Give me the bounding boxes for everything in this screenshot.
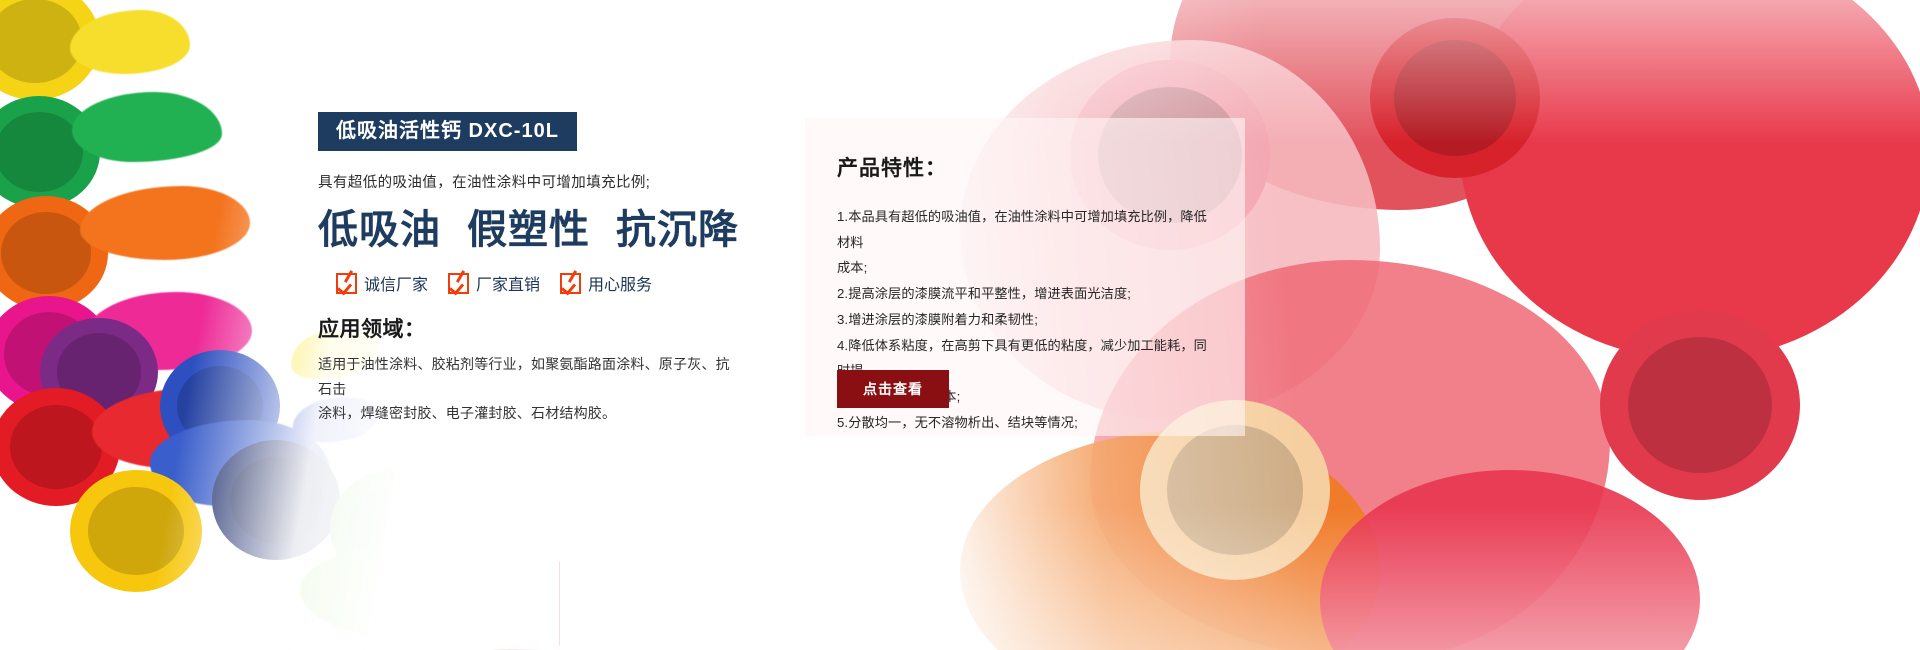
- application-body-line-2: 涂料，焊缝密封胶、电子灌封胶、石材结构胶。: [318, 401, 738, 426]
- application-body-line-1: 适用于油性涂料、胶粘剂等行业，如聚氨酯路面涂料、原子灰、抗石击: [318, 352, 738, 401]
- feature-line: 3.增进涂层的漆膜附着力和柔韧性;: [837, 307, 1217, 333]
- application-section-body: 适用于油性涂料、胶粘剂等行业，如聚氨酯路面涂料、原子灰、抗石击 涂料，焊缝密封胶…: [318, 352, 738, 426]
- product-features-panel: 产品特性： 1.本品具有超低的吸油值，在油性涂料中可增加填充比例，降低材料 成本…: [805, 118, 1245, 436]
- check-icon: [448, 273, 469, 294]
- view-details-button[interactable]: 点击查看: [837, 370, 949, 408]
- trust-badge-label: 用心服务: [588, 271, 652, 295]
- headline-word-3: 抗沉降: [616, 207, 739, 252]
- product-banner: 低吸油活性钙 DXC-10L 具有超低的吸油值，在油性涂料中可增加填充比例; 低…: [0, 0, 1920, 650]
- left-copy-block: 低吸油活性钙 DXC-10L 具有超低的吸油值，在油性涂料中可增加填充比例; 低…: [318, 112, 738, 426]
- feature-line: 成本;: [837, 255, 1217, 281]
- feature-line: 1.本品具有超低的吸油值，在油性涂料中可增加填充比例，降低材料: [837, 204, 1217, 255]
- application-section-title: 应用领域：: [318, 313, 738, 343]
- trust-badge-row: 诚信厂家 厂家直销 用心服务: [318, 271, 738, 295]
- check-icon: [336, 273, 357, 294]
- headline-word-1: 低吸油: [318, 207, 441, 252]
- panel-title: 产品特性：: [837, 152, 1217, 182]
- check-icon: [560, 273, 581, 294]
- feature-line: 2.提高涂层的漆膜流平和平整性，增进表面光洁度;: [837, 281, 1217, 307]
- trust-badge-label: 诚信厂家: [364, 271, 428, 295]
- product-title-tag: 低吸油活性钙 DXC-10L: [318, 112, 577, 151]
- trust-badge-1: 诚信厂家: [336, 271, 428, 295]
- headline-keywords: 低吸油假塑性抗沉降: [318, 209, 738, 251]
- trust-badge-label: 厂家直销: [476, 271, 540, 295]
- feature-line: 5.分散均一，无不溶物析出、结块等情况;: [837, 410, 1217, 436]
- headline-word-2: 假塑性: [467, 207, 590, 252]
- product-subtitle: 具有超低的吸油值，在油性涂料中可增加填充比例;: [318, 173, 738, 193]
- trust-badge-3: 用心服务: [560, 271, 652, 295]
- trust-badge-2: 厂家直销: [448, 271, 540, 295]
